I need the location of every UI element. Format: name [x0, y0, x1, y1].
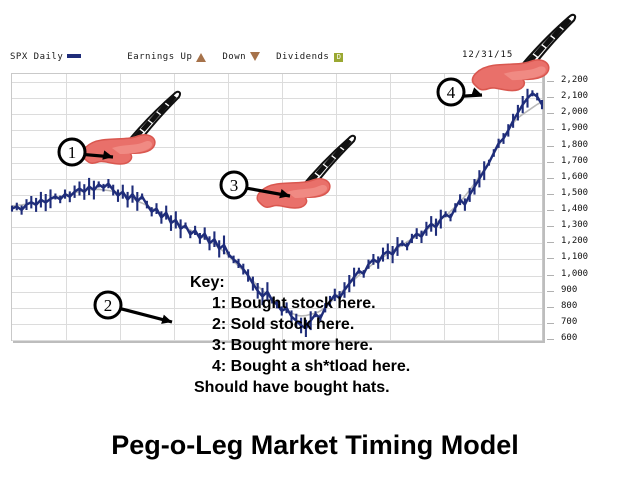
- annotation-callout-2: 2: [95, 292, 172, 324]
- peg-leg-graphic: [82, 92, 180, 164]
- key-heading: Key:: [190, 272, 480, 293]
- peg-leg-graphic: [472, 15, 575, 91]
- key-item-4: 4: Bought a sh*tload here.: [190, 356, 480, 377]
- key-legend-block: Key: 1: Bought stock here. 2: Sold stock…: [190, 272, 480, 398]
- page-title: Peg-o-Leg Market Timing Model: [0, 430, 630, 461]
- key-footer: Should have bought hats.: [190, 377, 480, 398]
- annotation-number: 1: [68, 143, 77, 162]
- annotation-number: 3: [230, 176, 239, 195]
- annotation-number: 2: [104, 296, 113, 315]
- peg-leg-graphic: [257, 136, 355, 208]
- key-item-3: 3: Bought more here.: [190, 335, 480, 356]
- key-item-2: 2: Sold stock here.: [190, 314, 480, 335]
- key-item-1: 1: Bought stock here.: [190, 293, 480, 314]
- annotation-number: 4: [447, 83, 456, 102]
